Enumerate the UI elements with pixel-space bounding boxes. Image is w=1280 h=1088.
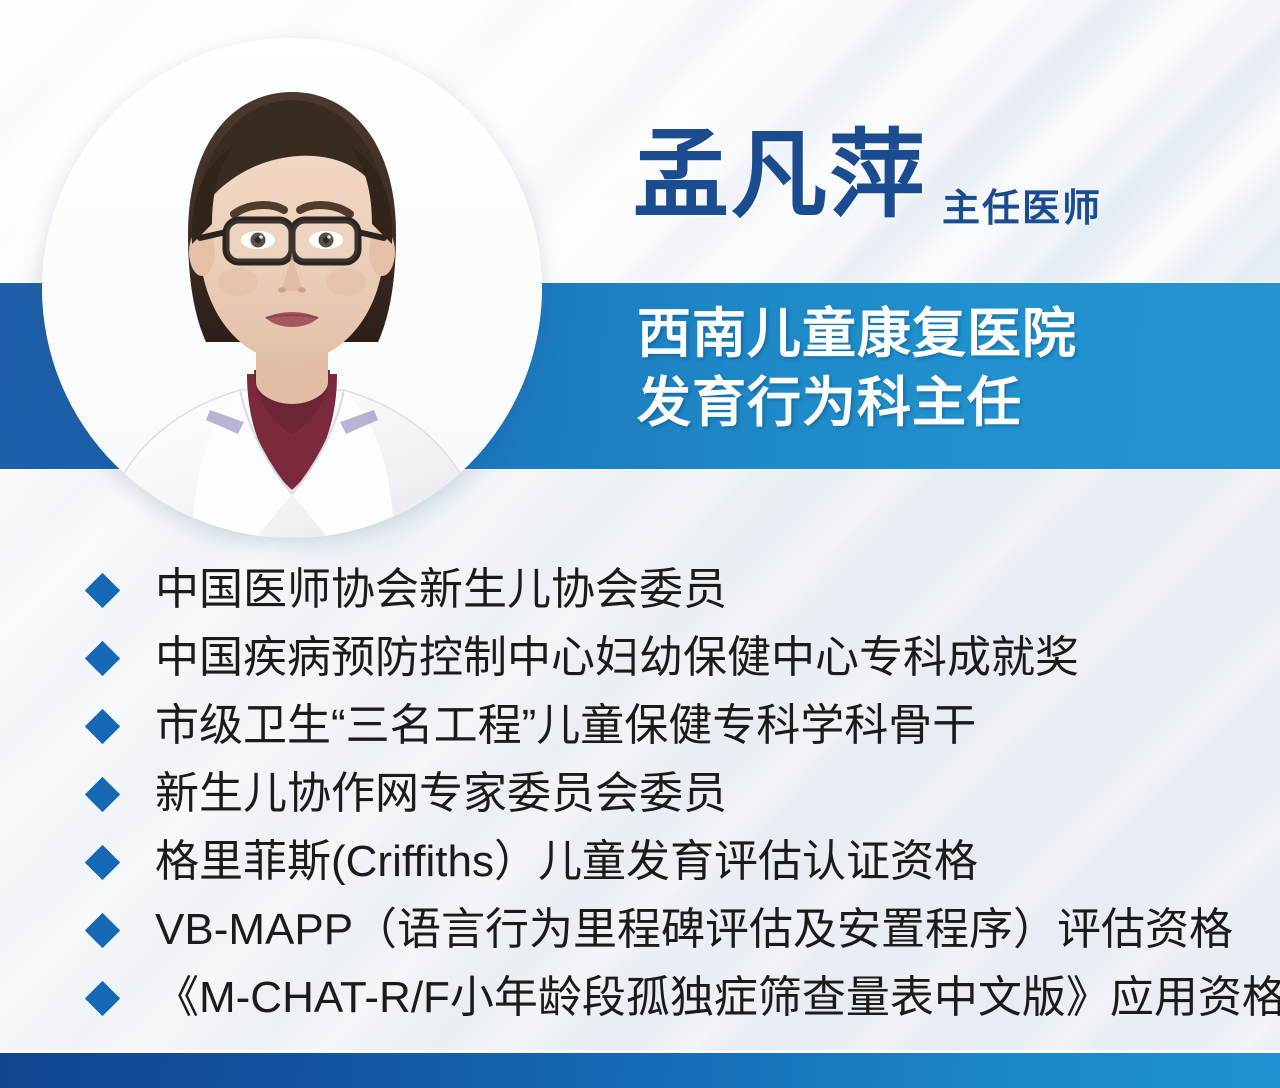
doctor-professional-title: 主任医师 xyxy=(942,190,1102,228)
credential-item: VB-MAPP（语言行为里程碑评估及安置程序）评估资格 xyxy=(86,896,1236,964)
diamond-bullet-icon xyxy=(85,980,120,1015)
diamond-bullet-icon xyxy=(85,572,120,607)
doctor-name: 孟凡萍 xyxy=(633,128,927,224)
credential-text: 新生儿协作网专家委员会委员 xyxy=(155,772,727,816)
credential-item: 格里菲斯(Criffiths）儿童发育评估认证资格 xyxy=(86,828,1236,896)
diamond-bullet-icon xyxy=(85,844,120,879)
credential-item: 市级卫生“三名工程”儿童保健专科学科骨干 xyxy=(86,692,1236,760)
credential-text: 中国医师协会新生儿协会委员 xyxy=(155,568,727,612)
doctor-profile-card: 西南儿童康复医院 发育行为科主任 xyxy=(0,0,1280,1088)
credential-item: 新生儿协作网专家委员会委员 xyxy=(86,760,1236,828)
credential-text: 《M-CHAT-R/F小年龄段孤独症筛查量表中文版》应用资格 xyxy=(155,976,1280,1020)
credentials-list: 中国医师协会新生儿协会委员 中国疾病预防控制中心妇幼保健中心专科成就奖 市级卫生… xyxy=(86,556,1236,1032)
diamond-bullet-icon xyxy=(85,776,120,811)
diamond-bullet-icon xyxy=(85,708,120,743)
credential-text: VB-MAPP（语言行为里程碑评估及安置程序）评估资格 xyxy=(155,908,1233,952)
bottom-accent-bar xyxy=(0,1053,1280,1088)
credential-text: 市级卫生“三名工程”儿童保健专科学科骨干 xyxy=(155,704,976,748)
credential-text: 格里菲斯(Criffiths）儿童发育评估认证资格 xyxy=(155,840,978,884)
affiliation-text: 西南儿童康复医院 发育行为科主任 xyxy=(637,300,1257,438)
credential-item: 中国医师协会新生儿协会委员 xyxy=(86,556,1236,624)
credential-item: 《M-CHAT-R/F小年龄段孤独症筛查量表中文版》应用资格 xyxy=(86,964,1236,1032)
credential-item: 中国疾病预防控制中心妇幼保健中心专科成就奖 xyxy=(86,624,1236,692)
credential-text: 中国疾病预防控制中心妇幼保健中心专科成就奖 xyxy=(155,636,1079,680)
diamond-bullet-icon xyxy=(85,912,120,947)
diamond-bullet-icon xyxy=(85,640,120,675)
doctor-portrait xyxy=(42,38,542,538)
